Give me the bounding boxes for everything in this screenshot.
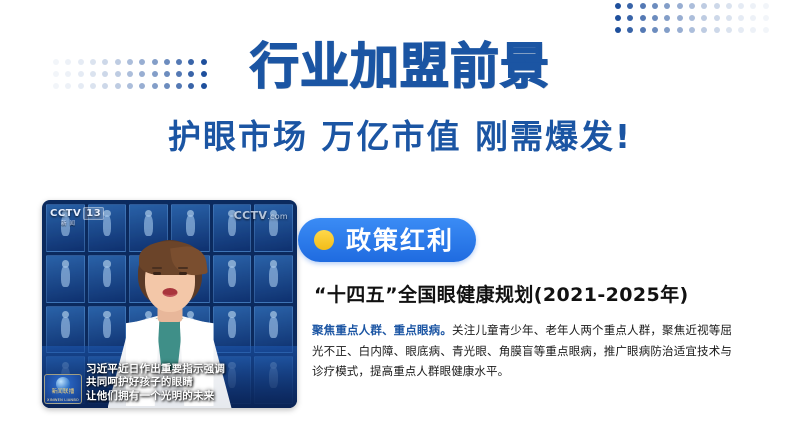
decorative-dot xyxy=(738,15,744,21)
decorative-dot xyxy=(627,3,633,9)
decorative-dot xyxy=(726,3,732,9)
decorative-dot xyxy=(701,15,707,21)
decorative-dot xyxy=(640,15,646,21)
news-caption-line-1: 习近平近日作出重要指示强调 xyxy=(86,363,293,377)
promo-banner: 行业加盟前景 护眼市场 万亿市值 刚需爆发! xyxy=(0,0,800,426)
policy-badge-label: 政策红利 xyxy=(346,228,454,253)
decorative-dot xyxy=(640,3,646,9)
news-caption: 习近平近日作出重要指示强调 共同呵护好孩子的眼睛 让他们拥有一个光明的未来 xyxy=(86,363,293,404)
cctv-channel-sub: 新闻 xyxy=(61,219,78,227)
cctv-watermark-suffix: .com xyxy=(267,212,288,221)
decorative-dot xyxy=(689,3,695,9)
decorative-dot xyxy=(738,27,744,33)
decorative-dot xyxy=(652,27,658,33)
decorative-dot xyxy=(640,27,646,33)
cctv-logo-text: CCTV xyxy=(50,208,81,219)
decorative-dot xyxy=(714,27,720,33)
monitor-tile xyxy=(46,255,85,303)
decorative-dot xyxy=(652,15,658,21)
decorative-dot-grid-right xyxy=(612,0,800,222)
decorative-dot xyxy=(615,3,621,9)
xinwen-lianbo-title: 新闻联播 xyxy=(45,387,81,395)
decorative-dot xyxy=(627,27,633,33)
decorative-dot xyxy=(652,3,658,9)
policy-body-highlight: 聚焦重点人群、重点眼病。 xyxy=(312,323,452,337)
decorative-dot xyxy=(763,27,769,33)
news-caption-line-3: 让他们拥有一个光明的未来 xyxy=(86,390,293,404)
decorative-dot xyxy=(750,15,756,21)
decorative-dot xyxy=(763,15,769,21)
cctv-channel-number: 13 xyxy=(83,207,104,220)
decorative-dot xyxy=(701,27,707,33)
anchor-mouth xyxy=(162,288,177,297)
decorative-dot xyxy=(677,15,683,21)
decorative-dot xyxy=(689,15,695,21)
decorative-dot xyxy=(689,27,695,33)
banner-content: CCTV 13 新闻 CCTV.com 新闻联播 XINWEN LIANBO 习… xyxy=(0,196,800,418)
decorative-dot xyxy=(750,3,756,9)
cctv-watermark-text: CCTV xyxy=(234,209,267,222)
anchor-eyebrow-left xyxy=(152,267,162,269)
decorative-dot xyxy=(763,3,769,9)
decorative-dot xyxy=(615,15,621,21)
decorative-dot xyxy=(615,27,621,33)
decorative-dot xyxy=(677,27,683,33)
decorative-dot xyxy=(714,3,720,9)
decorative-dot xyxy=(664,15,670,21)
policy-badge[interactable]: 政策红利 xyxy=(298,218,476,262)
gold-dot-icon xyxy=(314,230,334,250)
decorative-dot xyxy=(627,15,633,21)
decorative-dot xyxy=(726,27,732,33)
decorative-dot xyxy=(738,3,744,9)
xinwen-lianbo-badge: 新闻联播 XINWEN LIANBO xyxy=(44,374,82,404)
monitor-tile xyxy=(254,255,293,303)
decorative-dot xyxy=(714,15,720,21)
policy-body: 聚焦重点人群、重点眼病。关注儿童青少年、老年人两个重点人群，聚焦近视等屈光不正、… xyxy=(312,320,732,382)
policy-panel: 政策红利 “十四五”全国眼健康规划(2021-2025年) 聚焦重点人群、重点眼… xyxy=(296,196,766,418)
news-caption-line-2: 共同呵护好孩子的眼睛 xyxy=(86,376,293,390)
policy-heading: “十四五”全国眼健康规划(2021-2025年) xyxy=(314,282,689,308)
banner-header: 行业加盟前景 护眼市场 万亿市值 刚需爆发! xyxy=(0,0,800,175)
xinwen-lianbo-sub: XINWEN LIANBO xyxy=(45,398,81,402)
decorative-dot xyxy=(664,3,670,9)
decorative-dot xyxy=(664,27,670,33)
decorative-dot xyxy=(701,3,707,9)
cctv-watermark: CCTV.com xyxy=(234,209,288,222)
decorative-dot xyxy=(677,3,683,9)
decorative-dot xyxy=(750,27,756,33)
anchor-eyebrow-right xyxy=(178,267,188,269)
anchor-eye-left xyxy=(153,272,161,275)
page-subtitle: 护眼市场 万亿市值 刚需爆发! xyxy=(0,116,800,158)
anchor-eye-right xyxy=(179,272,187,275)
news-thumbnail[interactable]: CCTV 13 新闻 CCTV.com 新闻联播 XINWEN LIANBO 习… xyxy=(42,200,297,408)
decorative-dot xyxy=(726,15,732,21)
